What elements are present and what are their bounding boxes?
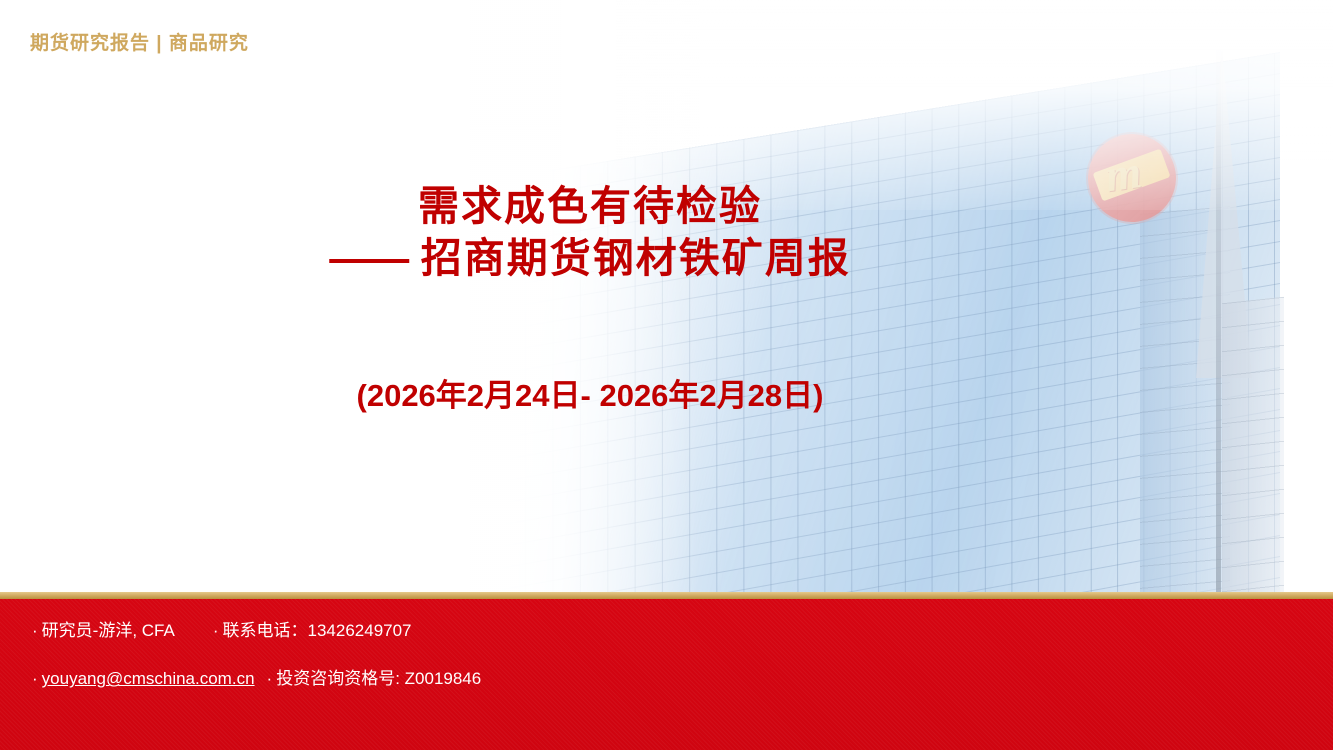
title-block: 需求成色有待检验 —— 招商期货钢材铁矿周报 [0, 180, 1180, 285]
analyst-email-link[interactable]: youyang@cmschina.com.cn [42, 669, 255, 688]
page-subtitle-text: 招商期货钢材铁矿周报 [421, 235, 851, 281]
gold-divider-strip [0, 592, 1333, 599]
bullet-icon: · [213, 621, 219, 641]
analyst-label: 研究员-游洋, CFA [42, 621, 175, 640]
phone-label: 联系电话：13426249707 [223, 621, 412, 640]
report-cover-slide: 期货研究报告 | 商品研究 需求成色有待检验 —— 招商期货钢材铁矿周报 (20… [0, 0, 1333, 750]
photo-left-fade-overlay [470, 0, 700, 600]
footer-row-email: ·youyang@cmschina.com.cn·投资咨询资格号: Z00198… [32, 669, 481, 689]
tower-vertical-edge [1216, 50, 1221, 600]
page-subtitle: —— 招商期货钢材铁矿周报 [0, 232, 1180, 284]
report-date-range: (2026年2月24日- 2026年2月28日) [0, 370, 1180, 415]
tower-spire [1196, 48, 1252, 378]
tower-right-column [1222, 297, 1284, 600]
license-number-label: 投资咨询资格号: Z0019846 [276, 669, 481, 688]
photo-top-fade-overlay [500, 0, 1333, 210]
report-category-label: 期货研究报告 | 商品研究 [30, 28, 249, 55]
bullet-icon: · [32, 669, 38, 689]
em-dash-prefix: —— [329, 232, 407, 284]
tower-glass-facade [497, 52, 1280, 600]
footer-contact-block: ·研究员-游洋, CFA·联系电话：13426249707 ·youyang@c… [32, 621, 481, 718]
page-title: 需求成色有待检验 [0, 180, 1180, 232]
footer-row-analyst: ·研究员-游洋, CFA·联系电话：13426249707 [32, 621, 481, 641]
bullet-icon: · [32, 621, 38, 641]
footer-band: ·研究员-游洋, CFA·联系电话：13426249707 ·youyang@c… [0, 599, 1333, 750]
bullet-icon: · [267, 669, 273, 689]
background-building-photo [0, 0, 1333, 600]
